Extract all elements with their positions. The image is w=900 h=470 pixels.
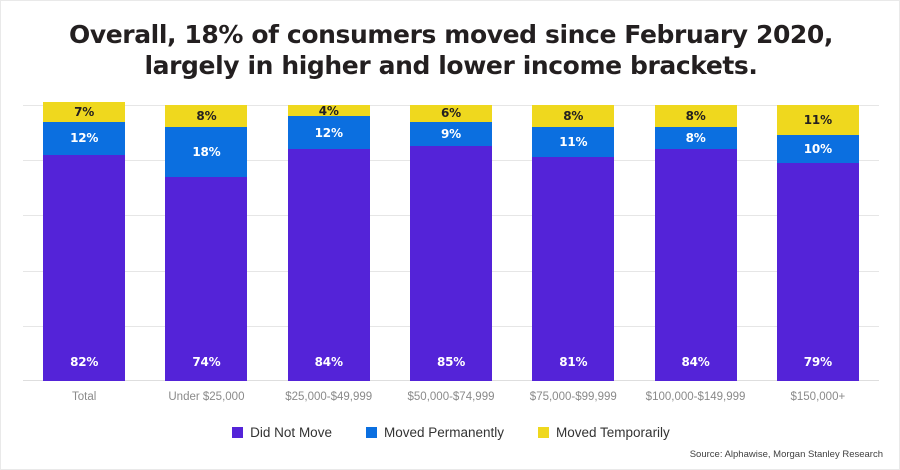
bar-group[interactable]: 79%10%11%: [777, 105, 859, 381]
bar-value-label: 85%: [437, 355, 465, 369]
x-axis-label: Total: [19, 391, 149, 403]
bar-value-label: 8%: [563, 109, 583, 123]
bar-value-label: 10%: [804, 142, 832, 156]
bar-value-label: 79%: [804, 355, 832, 369]
legend-swatch-icon: [538, 427, 549, 438]
legend-swatch-icon: [366, 427, 377, 438]
bar-segment[interactable]: 10%: [777, 135, 859, 163]
bar-value-label: 4%: [319, 104, 339, 118]
bar-segment[interactable]: 81%: [532, 157, 614, 381]
legend-label: Did Not Move: [250, 425, 332, 440]
bar-value-label: 11%: [559, 135, 587, 149]
bar-group[interactable]: 84%8%8%: [655, 105, 737, 381]
bar-group[interactable]: 74%18%8%: [165, 105, 247, 381]
x-axis-label: $50,000-$74,999: [386, 391, 516, 403]
x-axis-label: $25,000-$49,999: [264, 391, 394, 403]
x-axis-label: Under $25,000: [141, 391, 271, 403]
bar-segment[interactable]: 8%: [655, 127, 737, 149]
legend-label: Moved Permanently: [384, 425, 504, 440]
legend-item[interactable]: Did Not Move: [232, 425, 332, 440]
bar-value-label: 9%: [441, 127, 461, 141]
x-axis-label: $150,000+: [753, 391, 883, 403]
bar-segment[interactable]: 18%: [165, 127, 247, 177]
x-axis-labels: TotalUnder $25,000$25,000-$49,999$50,000…: [23, 391, 879, 409]
bar-group[interactable]: 81%11%8%: [532, 105, 614, 381]
bar-value-label: 74%: [192, 355, 220, 369]
bar-segment[interactable]: 82%: [43, 155, 125, 381]
bar-segment[interactable]: 84%: [655, 149, 737, 381]
legend-item[interactable]: Moved Temporarily: [538, 425, 670, 440]
chart-title: Overall, 18% of consumers moved since Fe…: [1, 19, 900, 81]
bar-segment[interactable]: 74%: [165, 177, 247, 381]
plot-area: 82%12%7%74%18%8%84%12%4%85%9%6%81%11%8%8…: [23, 105, 879, 381]
bar-value-label: 8%: [686, 131, 706, 145]
bar-value-label: 84%: [682, 355, 710, 369]
bar-value-label: 11%: [804, 113, 832, 127]
bar-value-label: 8%: [686, 109, 706, 123]
bar-group[interactable]: 85%9%6%: [410, 105, 492, 381]
source-note: Source: Alphawise, Morgan Stanley Resear…: [690, 449, 883, 460]
title-line-2: largely in higher and lower income brack…: [1, 50, 900, 81]
chart-page: Overall, 18% of consumers moved since Fe…: [0, 0, 900, 470]
legend-item[interactable]: Moved Permanently: [366, 425, 504, 440]
bar-segment[interactable]: 8%: [165, 105, 247, 127]
bar-segment[interactable]: 84%: [288, 149, 370, 381]
x-axis-label: $75,000-$99,999: [508, 391, 638, 403]
bar-segment[interactable]: 11%: [777, 105, 859, 135]
bar-value-label: 12%: [70, 131, 98, 145]
bar-value-label: 6%: [441, 106, 461, 120]
bar-value-label: 18%: [192, 145, 220, 159]
bar-segment[interactable]: 85%: [410, 146, 492, 381]
bar-value-label: 8%: [196, 109, 216, 123]
legend-swatch-icon: [232, 427, 243, 438]
chart-legend: Did Not MoveMoved PermanentlyMoved Tempo…: [1, 425, 900, 440]
bar-group[interactable]: 84%12%4%: [288, 105, 370, 381]
bar-value-label: 84%: [315, 355, 343, 369]
bar-group[interactable]: 82%12%7%: [43, 105, 125, 381]
bar-value-label: 12%: [315, 126, 343, 140]
bar-segment[interactable]: 8%: [655, 105, 737, 127]
x-axis-label: $100,000-$149,999: [631, 391, 761, 403]
bar-segment[interactable]: 7%: [43, 102, 125, 121]
bar-segment[interactable]: 8%: [532, 105, 614, 127]
bar-segment[interactable]: 79%: [777, 163, 859, 381]
bar-segment[interactable]: 12%: [288, 116, 370, 149]
bar-segment[interactable]: 6%: [410, 105, 492, 122]
bar-segment[interactable]: 12%: [43, 122, 125, 155]
bar-segment[interactable]: 4%: [288, 105, 370, 116]
bar-value-label: 82%: [70, 355, 98, 369]
legend-label: Moved Temporarily: [556, 425, 670, 440]
bar-segment[interactable]: 11%: [532, 127, 614, 157]
bar-segment[interactable]: 9%: [410, 122, 492, 147]
bar-value-label: 7%: [74, 105, 94, 119]
title-line-1: Overall, 18% of consumers moved since Fe…: [1, 19, 900, 50]
bar-value-label: 81%: [559, 355, 587, 369]
